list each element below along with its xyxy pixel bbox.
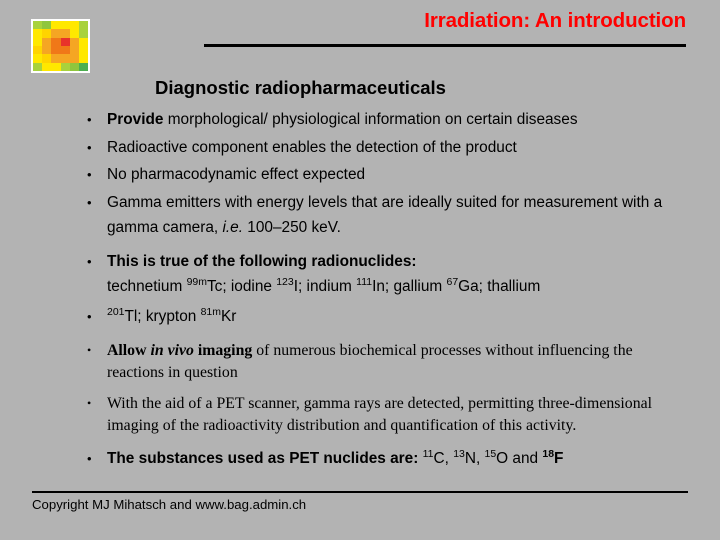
bullet-superscript: 81m xyxy=(201,306,221,317)
heatmap-cell xyxy=(33,63,42,71)
bullet-text-run: Tl; krypton xyxy=(124,308,200,325)
bullet-text-run: I; indium xyxy=(294,278,356,295)
bullet-text-run: The substances used as PET nuclides are: xyxy=(107,450,418,467)
heatmap-cell xyxy=(61,46,70,54)
heatmap-cell xyxy=(51,29,60,37)
heatmap-cell xyxy=(51,63,60,71)
heatmap-cell xyxy=(42,29,51,37)
bullet-text-run: This is true of the following radionucli… xyxy=(107,253,417,270)
heatmap-cell xyxy=(33,54,42,62)
bullet-spacer xyxy=(86,438,690,446)
heatmap-cell xyxy=(79,29,88,37)
bullet-item-pet-scanner: With the aid of a PET scanner, gamma ray… xyxy=(86,393,690,436)
bullet-text-run: F xyxy=(554,450,563,467)
heatmap-cell xyxy=(70,46,79,54)
page-title: Irradiation: An introduction xyxy=(424,9,686,33)
header-divider xyxy=(204,44,686,47)
heatmap-cell xyxy=(70,29,79,37)
copyright-footer: Copyright MJ Mihatsch and www.bag.admin.… xyxy=(32,497,306,512)
bullet-text-run: 100–250 keV. xyxy=(243,219,341,236)
bullet-item-thallium-krypton: 201Tl; krypton 81mKr xyxy=(86,304,690,330)
bullet-text-run: Tc; iodine xyxy=(207,278,276,295)
heatmap-cell xyxy=(79,63,88,71)
heatmap-cell xyxy=(70,63,79,71)
bullet-superscript: 99m xyxy=(187,277,207,288)
bullet-text-run: O and xyxy=(496,450,542,467)
bullet-text-run: Gamma emitters with energy levels that a… xyxy=(107,194,662,237)
heatmap-cell xyxy=(70,21,79,29)
slide-canvas: Irradiation: An introduction Diagnostic … xyxy=(0,0,720,540)
footer-divider xyxy=(32,491,688,493)
bullet-text-run: imaging xyxy=(194,342,252,359)
heatmap-cell xyxy=(61,63,70,71)
heatmap-cell xyxy=(70,38,79,46)
bullet-superscript: 18 xyxy=(542,449,554,460)
bullet-superscript: 201 xyxy=(107,306,124,317)
bullet-text-run: In; gallium xyxy=(372,278,446,295)
heatmap-cell xyxy=(42,38,51,46)
bullet-text-run: Provide xyxy=(107,111,163,128)
heatmap-logo-grid xyxy=(33,21,88,71)
heatmap-cell xyxy=(61,21,70,29)
bullet-item-gamma-emitters: Gamma emitters with energy levels that a… xyxy=(86,190,690,241)
bullet-item-no-pharmacodynamic-effect: No pharmacodynamic effect expected xyxy=(86,162,690,188)
bullet-superscript: 15 xyxy=(485,449,497,460)
bullet-superscript: 67 xyxy=(447,277,459,288)
heatmap-cell xyxy=(79,21,88,29)
heatmap-cell xyxy=(42,54,51,62)
bullet-text-run: Allow xyxy=(107,342,150,359)
heatmap-cell xyxy=(42,46,51,54)
bullet-text-run: Kr xyxy=(221,308,236,325)
bullet-superscript: 11 xyxy=(423,449,434,460)
bullet-item-allow-in-vivo-imaging: Allow in vivo imaging of numerous bioche… xyxy=(86,340,690,383)
bullet-superscript: 13 xyxy=(453,449,465,460)
bullet-item-radioactive-component: Radioactive component enables the detect… xyxy=(86,135,690,161)
heatmap-cell xyxy=(79,38,88,46)
heatmap-cell xyxy=(33,46,42,54)
heatmap-cell xyxy=(79,54,88,62)
bullet-list: Provide morphological/ physiological inf… xyxy=(86,107,690,474)
bullet-text-run: i.e. xyxy=(222,219,243,236)
bullet-superscript: 123 xyxy=(276,277,293,288)
heatmap-cell xyxy=(33,29,42,37)
heatmap-cell xyxy=(33,38,42,46)
heatmap-cell xyxy=(61,38,70,46)
heatmap-cell xyxy=(33,21,42,29)
heatmap-cell xyxy=(51,38,60,46)
bullet-text-run: N, xyxy=(465,450,485,467)
heatmap-cell xyxy=(51,46,60,54)
heatmap-cell xyxy=(61,54,70,62)
bullet-item-provide: Provide morphological/ physiological inf… xyxy=(86,107,690,133)
heatmap-cell xyxy=(70,54,79,62)
bullet-superscript: 111 xyxy=(356,277,372,288)
bullet-text-run: morphological/ physiological information… xyxy=(163,111,577,128)
bullet-item-pet-nuclides: The substances used as PET nuclides are:… xyxy=(86,446,690,472)
heatmap-logo xyxy=(31,19,90,73)
heatmap-cell xyxy=(51,54,60,62)
bullet-text-run: Radioactive component enables the detect… xyxy=(107,139,517,156)
bullet-spacer xyxy=(86,331,690,340)
bullet-text-run: C, xyxy=(434,450,454,467)
heatmap-cell xyxy=(42,63,51,71)
bullet-text-run: Ga; thallium xyxy=(458,278,540,295)
heatmap-cell xyxy=(42,21,51,29)
heatmap-cell xyxy=(61,29,70,37)
heatmap-cell xyxy=(79,46,88,54)
bullet-item-radionuclides-list: This is true of the following radionucli… xyxy=(86,249,690,300)
section-heading: Diagnostic radiopharmaceuticals xyxy=(155,77,446,99)
bullet-text-run: technetium xyxy=(107,278,187,295)
bullet-spacer xyxy=(86,385,690,393)
bullet-text-run: With the aid of a PET scanner, gamma ray… xyxy=(107,395,652,434)
heatmap-cell xyxy=(51,21,60,29)
bullet-text-run: No pharmacodynamic effect expected xyxy=(107,166,365,183)
bullet-text-run: in vivo xyxy=(150,342,193,359)
